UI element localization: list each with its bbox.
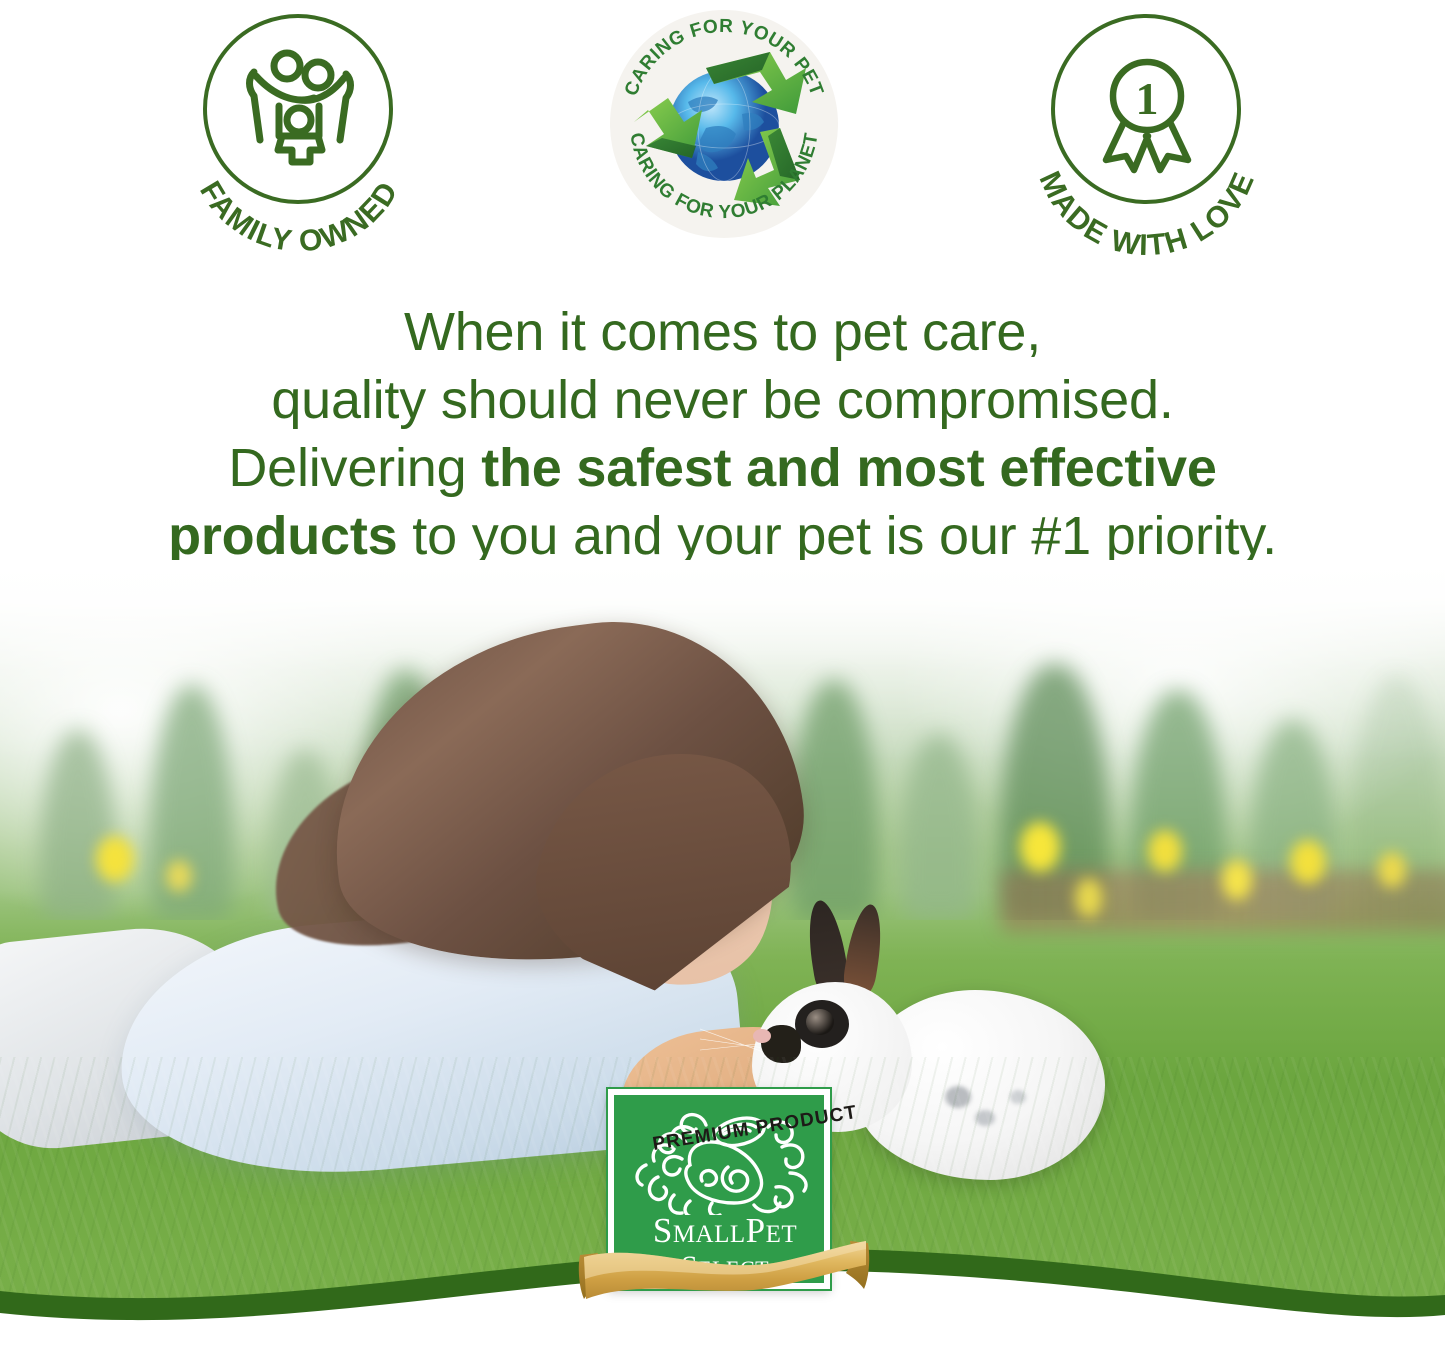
promo-banner: FAMILY OWNED (0, 0, 1445, 1357)
badge-caring-planet: CARING FOR YOUR PET CARING FOR YOUR PLAN… (598, 8, 848, 258)
headline-line-3-bold: the safest and most effective (481, 438, 1216, 498)
family-figures-icon (234, 44, 364, 174)
rabbit-eye (806, 1009, 834, 1035)
svg-text:FAMILY OWNED: FAMILY OWNED (193, 175, 405, 258)
award-ribbon-icon: 1 (1082, 44, 1212, 174)
headline-line-4-bold: products (168, 506, 397, 566)
rabbit-nose (753, 1029, 771, 1043)
badge-family-owned-label: FAMILY OWNED (193, 175, 405, 258)
recycle-globe-icon: CARING FOR YOUR PET CARING FOR YOUR PLAN… (610, 10, 838, 238)
bunny-filigree-icon (628, 1103, 822, 1215)
trust-badges-row: FAMILY OWNED (0, 8, 1445, 258)
badge-number: 1 (1135, 73, 1158, 124)
badge-made-with-love-label: MADE WITH LOVE (1032, 167, 1261, 263)
headline: When it comes to pet care, quality shoul… (0, 298, 1445, 570)
badge-made-with-love: MADE WITH LOVE 1 (1022, 8, 1272, 258)
badge-family-owned: FAMILY OWNED (174, 8, 424, 258)
svg-text:MADE WITH LOVE: MADE WITH LOVE (1032, 167, 1261, 263)
headline-line-2: quality should never be compromised. (0, 366, 1445, 434)
headline-line-3: Delivering the safest and most effective (0, 434, 1445, 502)
brand-logo: SMALLPET ··SELECT·· P (608, 1089, 838, 1304)
headline-line-4-normal: to you and your pet is our #1 priority. (397, 506, 1276, 566)
premium-ribbon (574, 1237, 874, 1315)
headline-line-1: When it comes to pet care, (0, 298, 1445, 366)
headline-line-3-normal: Delivering (228, 438, 481, 498)
